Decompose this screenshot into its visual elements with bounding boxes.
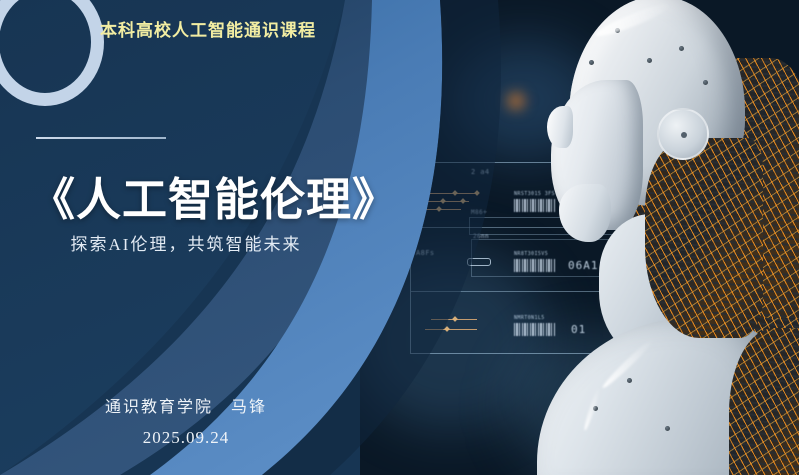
page-subtitle: 探索AI伦理，共筑智能未来 (0, 230, 372, 255)
slider-track (425, 329, 477, 330)
robot-bolt (647, 58, 652, 63)
robot-chin (559, 184, 611, 242)
course-kicker-label: 本科高校人工智能通识课程 (100, 16, 316, 41)
robot-nose (547, 106, 573, 148)
orange-bokeh (426, 18, 436, 28)
robot-bolt (589, 60, 594, 65)
slider-knob (460, 198, 466, 204)
toggle-pill (467, 258, 491, 266)
slider-knob (444, 326, 450, 332)
robot-temple-window (645, 138, 763, 338)
slider-knob (452, 190, 458, 196)
robot-bolt (665, 426, 670, 431)
slider-track (425, 193, 477, 194)
robot-bolt (627, 378, 632, 383)
robot-bolt (679, 46, 684, 51)
presentation-title-slide: Jd81 2 a4 M86+ 26nn A8Fs NRST3015 3FS 0:… (0, 0, 799, 475)
slider-knob (452, 316, 458, 322)
slider-knob (436, 206, 442, 212)
title-rule-divider (36, 137, 166, 139)
slider-knob (474, 190, 480, 196)
hero-photo-region: Jd81 2 a4 M86+ 26nn A8Fs NRST3015 3FS 0:… (330, 0, 799, 475)
slider-knob (440, 198, 446, 204)
robot-ear-disc (657, 108, 709, 160)
author-line: 通识教育学院 马锋 (0, 393, 372, 417)
page-title: 《人工智能伦理》 (30, 163, 398, 228)
slider-track (425, 209, 461, 210)
ai-robot-head (507, 0, 799, 475)
date-line: 2025.09.24 (0, 428, 372, 448)
robot-bolt (703, 80, 708, 85)
